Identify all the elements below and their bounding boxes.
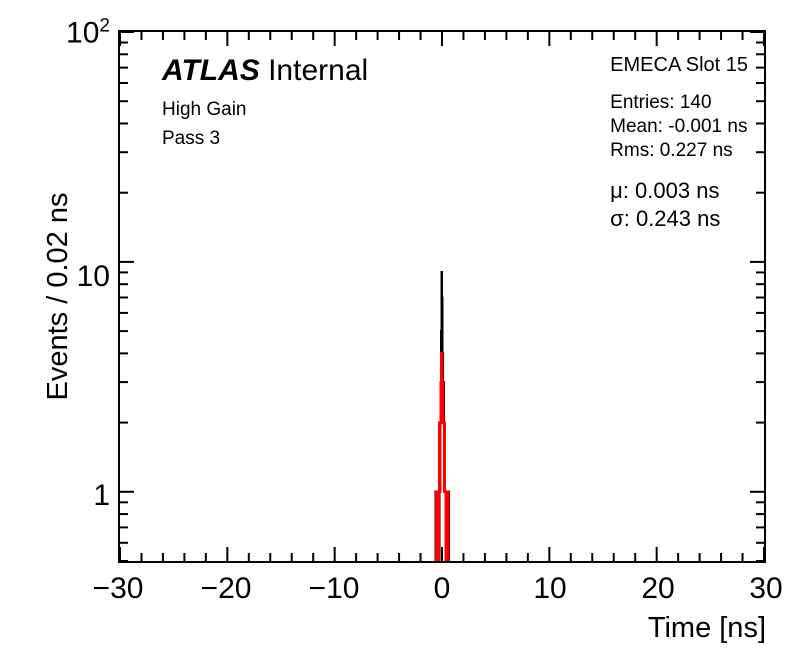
x-tick-label-0: 0 <box>434 572 451 606</box>
x-tick-label--20: −20 <box>201 572 252 606</box>
y-tick-label-10: 10 <box>58 260 110 294</box>
x-tick-label--10: −10 <box>309 572 360 606</box>
x-tick-label-30: 30 <box>749 572 782 606</box>
y-tick-label-1: 1 <box>58 479 110 513</box>
y-tick-label-100: 102 <box>58 16 110 51</box>
x-tick-label--30: −30 <box>93 572 144 606</box>
histogram-overlay-series <box>435 353 448 561</box>
plot-canvas: Events / 0.02 ns Time [ns] 102 10 1 −30 … <box>0 0 796 672</box>
x-axis-title: Time [ns] <box>648 612 766 645</box>
x-tick-label-20: 20 <box>641 572 674 606</box>
x-tick-label-10: 10 <box>533 572 566 606</box>
plot-frame: ATLAS Internal High Gain Pass 3 EMECA Sl… <box>118 30 766 563</box>
histogram-svg <box>120 32 764 561</box>
